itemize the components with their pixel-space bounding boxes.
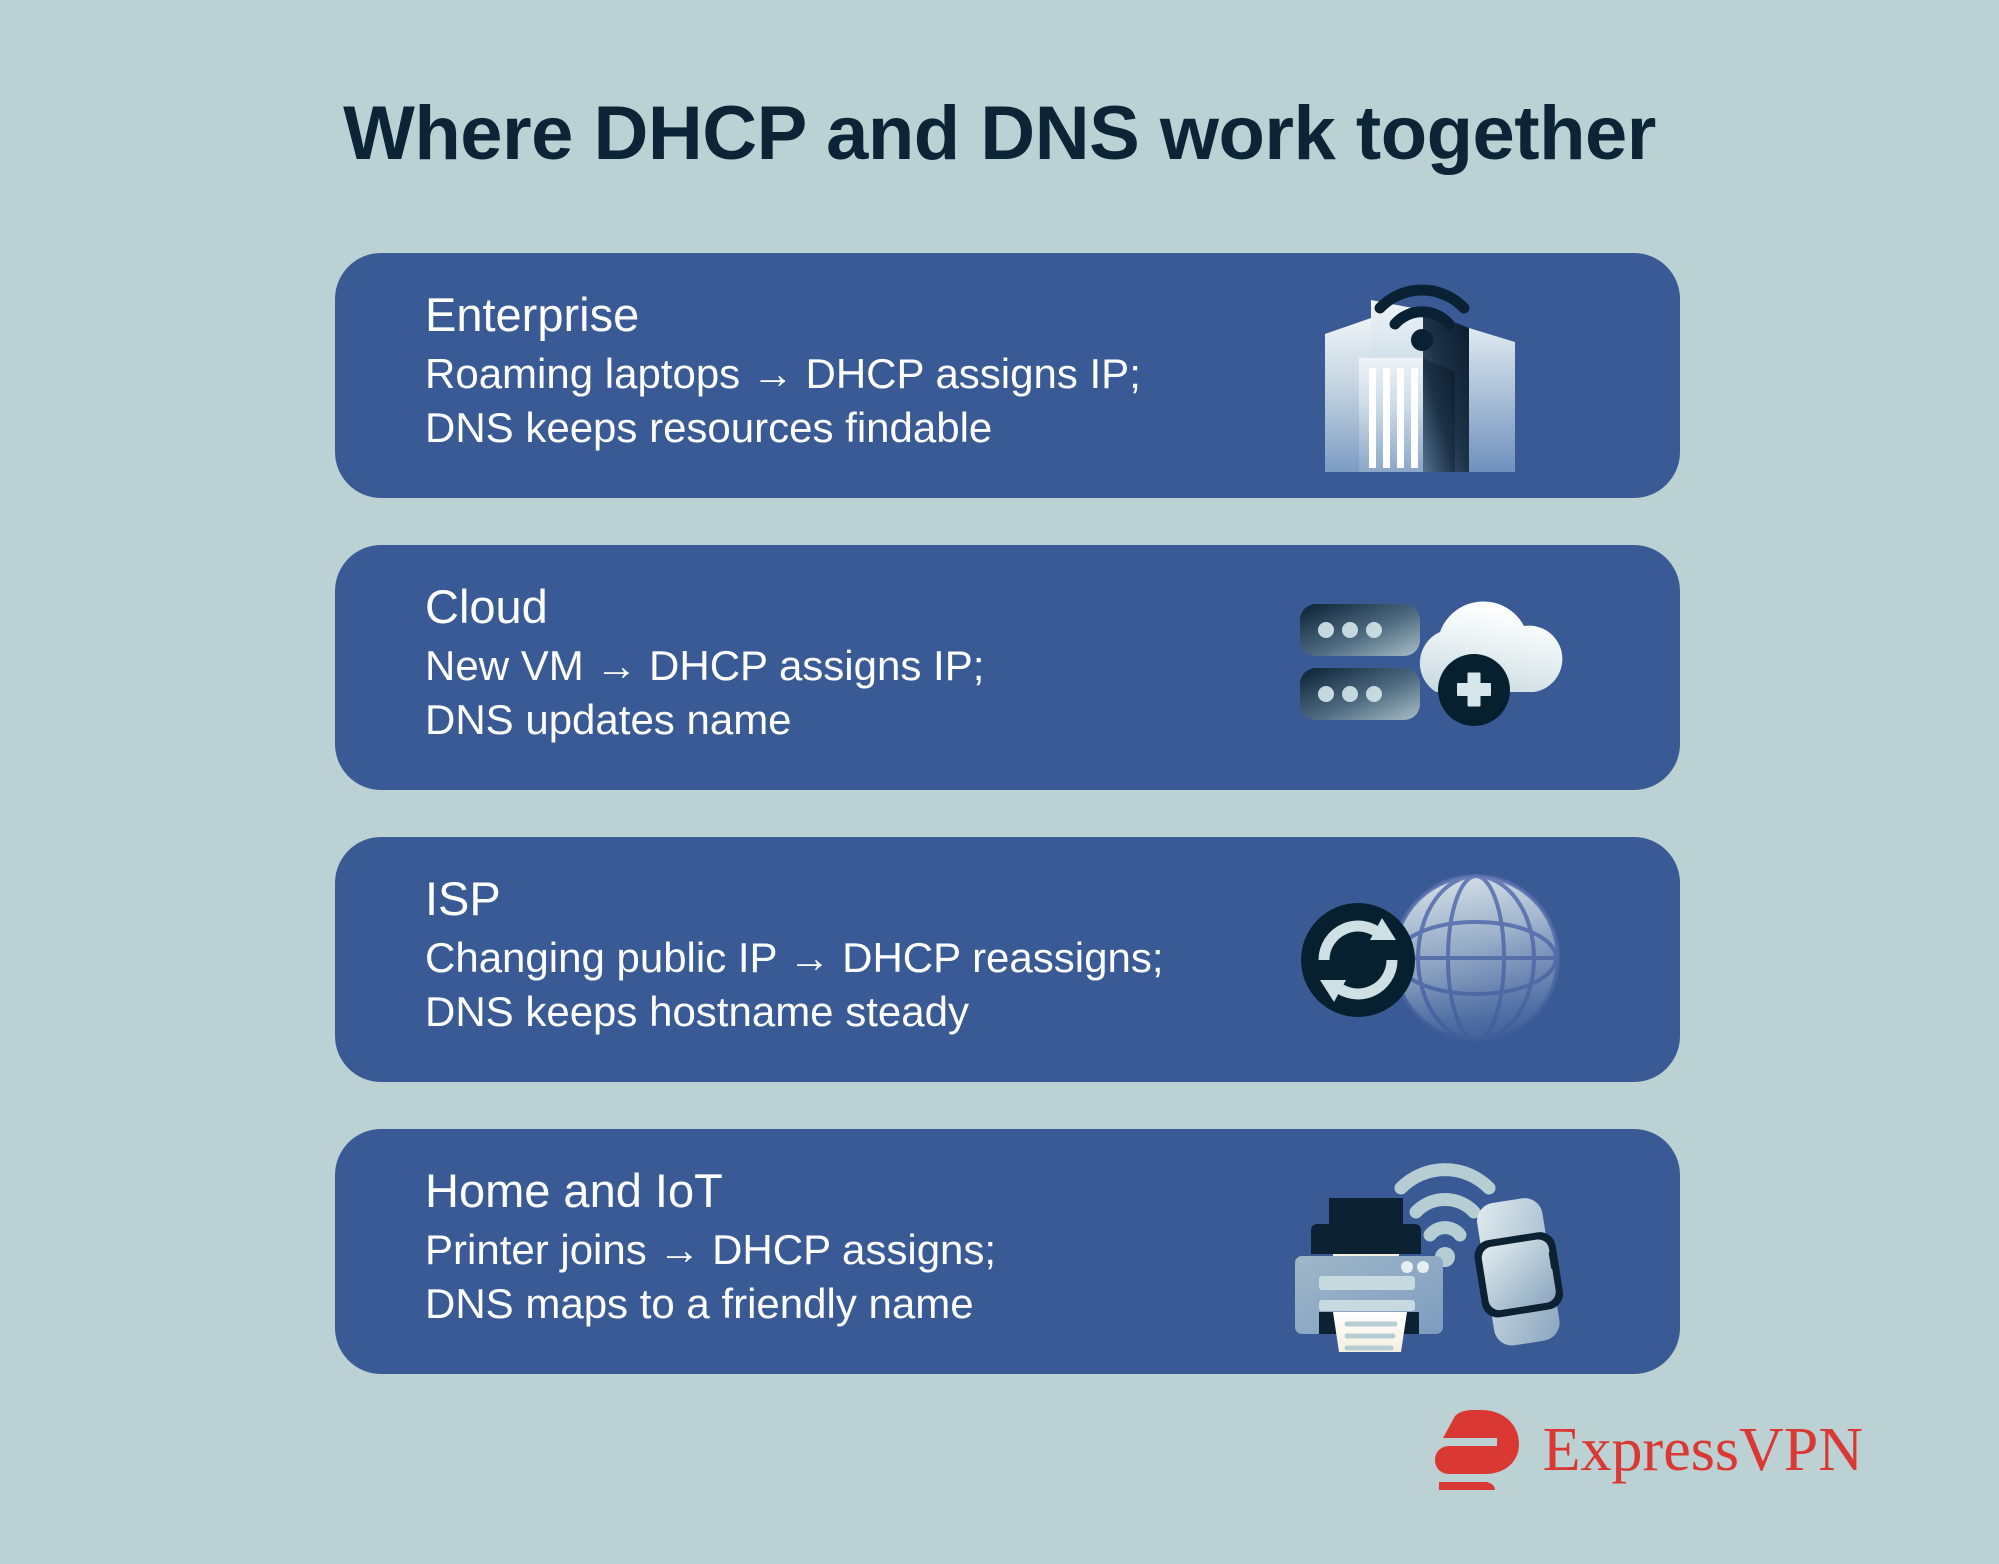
office-building-wifi-icon — [1284, 276, 1584, 476]
globe-refresh-icon — [1284, 860, 1584, 1060]
card-enterprise[interactable]: Enterprise Roaming laptops → DHCP assign… — [335, 253, 1680, 498]
cloud-server-add-icon — [1284, 568, 1584, 768]
expressvpn-logo: ExpressVPN — [1433, 1408, 1863, 1492]
card-home-iot[interactable]: Home and IoT Printer joins → DHCP assign… — [335, 1129, 1680, 1374]
printer-smartwatch-wifi-icon — [1284, 1152, 1584, 1352]
infographic-page: Where DHCP and DNS work together Enterpr… — [0, 0, 1999, 1564]
card-isp[interactable]: ISP Changing public IP → DHCP reassigns;… — [335, 837, 1680, 1082]
card-list: Enterprise Roaming laptops → DHCP assign… — [335, 253, 1680, 1421]
brand-wordmark: ExpressVPN — [1543, 1419, 1863, 1481]
page-title: Where DHCP and DNS work together — [0, 92, 1999, 176]
expressvpn-e-mark — [1433, 1408, 1521, 1492]
card-cloud[interactable]: Cloud New VM → DHCP assigns IP; DNS upda… — [335, 545, 1680, 790]
